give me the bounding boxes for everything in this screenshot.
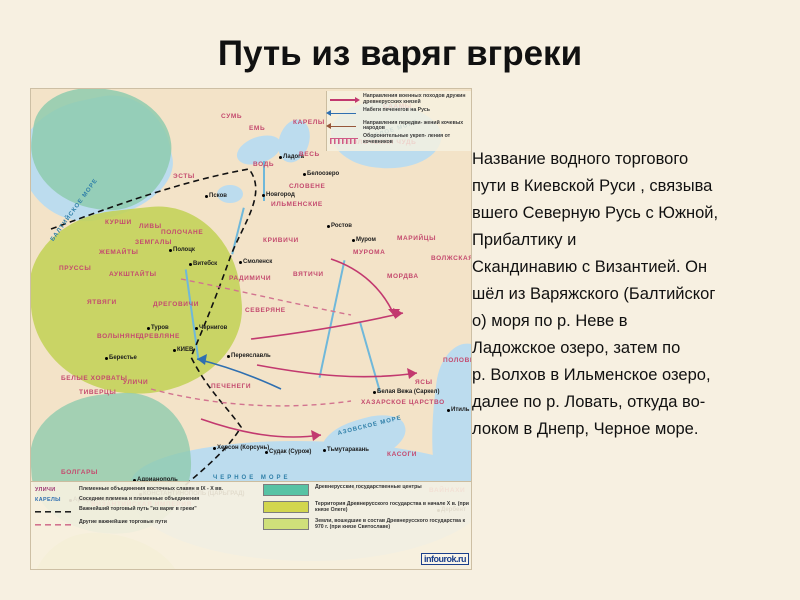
description-line: о) моря по р. Неве в xyxy=(472,308,800,335)
description-line: Название водного торгового xyxy=(472,146,800,173)
map-label-tribe: ВОЛЫНЯНЕ xyxy=(97,333,141,340)
map-legend-bottom: УЛИЧИ Племенные объединения восточных сл… xyxy=(31,481,472,569)
map-city-dot xyxy=(303,173,306,176)
map-label-city: Белоозеро xyxy=(307,171,339,178)
map-label-tribe: КУРШИ xyxy=(105,219,132,226)
map-label-tribe: ЯТВЯГИ xyxy=(87,299,117,306)
map-label-tribe: ЕМЬ xyxy=(249,125,265,132)
legend-row: Древнерусские государственные центры xyxy=(263,484,471,496)
description-line: пути в Киевской Руси , связыва xyxy=(472,173,800,200)
map-city-dot xyxy=(105,357,108,360)
map-label-tribe: ВЕСЬ xyxy=(299,151,320,158)
legend-key-neighbour: КАРЕЛЫ xyxy=(35,497,79,503)
legend-row: КАРЕЛЫ Соседние племена и племенные объе… xyxy=(35,496,259,503)
legend-label: Земли, вошедшие в состав Древнерусского … xyxy=(315,518,471,530)
page-title: Путь из варяг вгреки xyxy=(0,34,800,74)
river-don xyxy=(359,322,381,392)
description-line: Прибалтику и xyxy=(472,227,800,254)
description-line: шёл из Варяжского (Балтийског xyxy=(472,281,800,308)
description-line: локом в Днепр, Черное море. xyxy=(472,416,800,443)
legend-label: Древнерусские государственные центры xyxy=(315,484,422,490)
map-label-tribe: КАСОГИ xyxy=(387,451,417,458)
map-label-tribe: ИЛЬМЕНСКИЕ xyxy=(271,201,323,208)
map-label-tribe: СЛОВЕНЕ xyxy=(289,183,325,190)
map-label-tribe: РАДИМИЧИ xyxy=(229,275,271,282)
map-label-tribe: ВОДЬ xyxy=(253,161,274,168)
map-city-dot xyxy=(213,447,216,450)
map-label-city: Новгород xyxy=(266,192,295,199)
map-city-dot xyxy=(239,261,242,264)
legend-row: Оборонительные укреп- ления от кочевнико… xyxy=(330,134,470,146)
map-label-city: Переяславль xyxy=(231,353,271,360)
map-label-city: Чернигов xyxy=(199,325,227,332)
map-city-dot xyxy=(447,409,450,412)
map-label-tribe: СУМЬ xyxy=(221,113,242,120)
map-label-city: Итиль xyxy=(451,407,469,414)
map-label-city: КИЕВ xyxy=(177,347,193,354)
map-city-dot xyxy=(262,194,265,197)
legend-label: Племенные объединения восточных славян в… xyxy=(79,486,223,492)
map-label-tribe: ДРЕГОВИЧИ xyxy=(153,301,199,308)
map-label-city: Берестье xyxy=(109,355,137,362)
map-label-tribe: ВЯТИЧИ xyxy=(293,271,324,278)
map-city-dot xyxy=(227,355,230,358)
legend-row: Набеги печенегов на Русь xyxy=(330,108,470,119)
legend-swatch-centers xyxy=(263,484,309,496)
map-city-dot xyxy=(189,263,192,266)
legend-label: Набеги печенегов на Русь xyxy=(363,108,430,114)
blue-arrow-icon xyxy=(330,109,360,119)
map-label-tribe: ПОЛОЧАНЕ xyxy=(161,229,203,236)
legend-row: Земли, вошедшие в состав Древнерусского … xyxy=(263,518,471,530)
map-label-tribe: УЛИЧИ xyxy=(123,379,148,386)
legend-label: Важнейший торговый путь "из варяг в грек… xyxy=(79,506,197,512)
map-legend-top: Направления военных походов дружин древн… xyxy=(326,91,472,151)
watermark: infourok.ru xyxy=(421,553,469,565)
description-line: далее по р. Ловать, откуда во- xyxy=(472,389,800,416)
map-city-dot xyxy=(323,449,326,452)
map-city-dot xyxy=(195,327,198,330)
map-label-city: Муром xyxy=(356,237,376,244)
map-city-dot xyxy=(173,349,176,352)
legend-swatch-territory-oleg xyxy=(263,501,309,513)
map-city-dot xyxy=(205,195,208,198)
map-label-tribe: БЕЛЫЕ ХОРВАТЫ xyxy=(61,375,128,382)
legend-label: Оборонительные укреп- ления от кочевнико… xyxy=(363,134,470,146)
map-label-tribe: АУКШТАЙТЫ xyxy=(109,271,157,278)
legend-label: Направления военных походов дружин древн… xyxy=(363,94,470,106)
legend-label: Другие важнейшие торговые пути xyxy=(79,519,167,525)
map-label-tribe: ХАЗАРСКОЕ ЦАРСТВО xyxy=(361,399,445,406)
map-city-dot xyxy=(279,156,282,159)
description-line: вшего Северную Русь с Южной, xyxy=(472,200,800,227)
river-lovat xyxy=(231,207,245,254)
map-label-tribe: ЗЕМГАЛЫ xyxy=(135,239,172,246)
map-label-tribe: ЭСТЫ xyxy=(173,173,195,180)
brown-arrow-icon xyxy=(330,122,360,132)
black-dashed-line-icon xyxy=(35,508,75,516)
map-label-tribe: СЕВЕРЯНЕ xyxy=(245,307,286,314)
historical-map[interactable]: БАЛТИЙСКОЕ МОРЕ БЕЛОЕ МОРЕ ЧЕРНОЕ МОРЕ А… xyxy=(30,88,472,570)
description-line: Ладожское озеро, затем по xyxy=(472,335,800,362)
description-text: Название водного торговогопути в Киевско… xyxy=(472,146,800,443)
legend-label: Направления передви- жений кочевых народ… xyxy=(363,121,470,133)
legend-row: Территория Древнерусского государства в … xyxy=(263,501,471,513)
legend-swatch-territory-970 xyxy=(263,518,309,530)
map-label-tribe: КАРЕЛЫ xyxy=(293,119,325,126)
pink-hatch-line-icon xyxy=(330,135,360,145)
legend-key-tribe: УЛИЧИ xyxy=(35,487,79,493)
map-label-tribe: ЖЕМАЙТЫ xyxy=(99,249,139,256)
legend-row: Направления военных походов дружин древн… xyxy=(330,94,470,106)
pink-dashed-line-icon xyxy=(35,521,75,529)
map-label-city: Псков xyxy=(209,193,227,200)
map-label-city: Ростов xyxy=(331,223,352,230)
map-label-tribe: ЛИВЫ xyxy=(139,223,162,230)
description-line: Скандинавию с Византией. Он xyxy=(472,254,800,281)
legend-label: Территория Древнерусского государства в … xyxy=(315,501,471,513)
map-label-city: Белая Вежа (Саркел) xyxy=(377,389,439,396)
map-label-tribe: ПЕЧЕНЕГИ xyxy=(211,383,251,390)
map-city-dot xyxy=(169,249,172,252)
legend-label: Соседние племена и племенные объединения xyxy=(79,496,199,502)
map-city-dot xyxy=(373,391,376,394)
map-label-tribe: БОЛГАРЫ xyxy=(61,469,98,476)
map-label-tribe: КРИВИЧИ xyxy=(263,237,299,244)
map-label-tribe: МОРДВА xyxy=(387,273,419,280)
legend-row: Важнейший торговый путь "из варяг в грек… xyxy=(35,506,259,516)
map-label-city: Полоцк xyxy=(173,247,195,254)
description-line: р. Волхов в Ильменское озеро, xyxy=(472,362,800,389)
map-label-city: Смоленск xyxy=(243,259,272,266)
map-label-city: Судак (Сурож) xyxy=(269,449,311,456)
map-city-dot xyxy=(265,451,268,454)
map-city-dot xyxy=(147,327,150,330)
map-legend-bottom-left: УЛИЧИ Племенные объединения восточных сл… xyxy=(35,486,259,532)
map-label-tribe: ВОЛЖСКАЯ БУЛГАРИЯ xyxy=(431,255,472,262)
map-legend-bottom-right: Древнерусские государственные центры Тер… xyxy=(263,484,471,535)
map-city-dot xyxy=(327,225,330,228)
legend-row: Другие важнейшие торговые пути xyxy=(35,519,259,529)
map-label-tribe: ЯСЫ xyxy=(415,379,433,386)
legend-row: Направления передви- жений кочевых народ… xyxy=(330,121,470,133)
map-label-tribe: ПОЛОВЦЫ xyxy=(443,357,472,364)
map-label-tribe: ПРУССЫ xyxy=(59,265,91,272)
magenta-arrow-icon xyxy=(330,95,360,105)
map-label-city: Херсон (Корсунь) xyxy=(217,445,269,452)
map-label-city: Тьмутаракань xyxy=(327,447,369,454)
map-label-tribe: МАРИЙЦЫ xyxy=(397,235,436,242)
map-label-city: Витебск xyxy=(193,261,217,268)
map-label-tribe: МУРОМА xyxy=(353,249,385,256)
legend-row: УЛИЧИ Племенные объединения восточных сл… xyxy=(35,486,259,493)
map-label-tribe: ТИВЕРЦЫ xyxy=(79,389,116,396)
map-label-tribe: ДРЕВЛЯНЕ xyxy=(139,333,180,340)
map-label-city: Туров xyxy=(151,325,169,332)
map-city-dot xyxy=(352,239,355,242)
